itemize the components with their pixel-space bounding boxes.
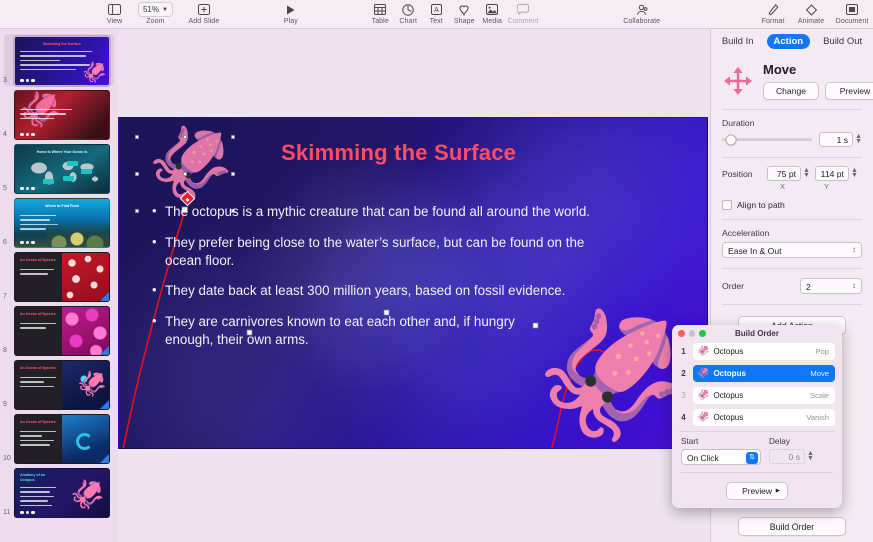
toolbar-add-slide-button[interactable]: Add Slide	[184, 0, 224, 25]
bullet-item: The octopus is a mythic creature that ca…	[151, 203, 676, 221]
toolbar-play-label: Play	[284, 18, 298, 25]
build-order-index: 3	[679, 391, 688, 400]
align-to-path-label: Align to path	[737, 200, 785, 210]
text-icon: A	[431, 2, 442, 17]
thumbnail-image: An Ocean of Species	[14, 306, 110, 356]
bullet-item: They date back at least 300 million year…	[151, 282, 676, 300]
build-order-object-name: Octopus	[713, 391, 806, 400]
play-icon	[285, 2, 296, 17]
toolbar-shape-label: Shape	[454, 18, 475, 25]
slide-number: 6	[3, 239, 7, 246]
thumbnail-build-dots	[20, 187, 35, 191]
octopus-icon: 🦑	[697, 369, 709, 379]
slide-thumbnail-9[interactable]: 🦑 An Ocean of Species 9	[0, 357, 118, 411]
slide-thumbnail-10[interactable]: An Ocean of Species 10	[0, 411, 118, 465]
toolbar-zoom-label: Zoom	[146, 18, 164, 25]
duration-slider-knob[interactable]	[726, 134, 737, 145]
transition-corner-marker	[100, 292, 109, 301]
thumbnail-image: Where to Find Food	[14, 198, 110, 248]
divider	[722, 268, 862, 269]
toolbar-zoom-control[interactable]: 51% ▼ Zoom	[135, 0, 175, 25]
thumbnail-image: Home Is Where Your Ocean Is	[14, 144, 110, 194]
slide-thumbnail-4[interactable]: 🦑 4	[0, 87, 118, 141]
build-order-effect: Pop	[815, 347, 829, 356]
animate-icon	[805, 2, 818, 17]
slide-navigator-sidebar[interactable]: Skimming the Surface 🦑 3 🦑	[0, 29, 118, 542]
reef-graphic	[47, 221, 109, 247]
thumbnail-title: An Ocean of Species	[20, 420, 56, 424]
sidebar-icon	[108, 2, 121, 17]
toolbar-animate-label: Animate	[798, 18, 824, 25]
build-order-index: 1	[679, 347, 688, 356]
slide-number: 11	[3, 509, 10, 516]
build-order-object-name: Octopus	[713, 369, 806, 378]
toolbar-table-label: Table	[372, 18, 389, 25]
collaborate-icon	[635, 2, 648, 17]
thumbnail-text-lines	[20, 323, 56, 332]
format-brush-icon	[768, 2, 779, 17]
octopus-icon: 🦑	[697, 413, 709, 423]
chart-icon	[402, 2, 414, 17]
toolbar-chart-label: Chart	[399, 18, 417, 25]
donut-chart-graphic	[76, 433, 93, 450]
toolbar-add-slide-label: Add Slide	[189, 18, 220, 25]
axis-y-label: Y	[803, 182, 850, 191]
octopus-graphic: 🦑	[70, 481, 105, 509]
order-value: 2	[806, 282, 811, 292]
toolbar-media-label: Media	[482, 18, 502, 25]
comment-icon	[517, 2, 529, 17]
duration-stepper[interactable]: 1 s ▲▼	[819, 132, 862, 147]
toolbar-shape-button[interactable]: Shape	[450, 0, 478, 25]
slide-canvas-area[interactable]: Skimming the Surface 🦑 The octopus is a …	[118, 29, 710, 542]
build-order-index: 2	[679, 369, 688, 378]
delay-stepper[interactable]: 0 s ▲▼	[769, 449, 814, 464]
svg-text:A: A	[434, 7, 439, 14]
toolbar-chart-button[interactable]: Chart	[394, 0, 422, 25]
build-order-panel[interactable]: Build Order 1 🦑 Octopus Pop 2 🦑 Octopus …	[672, 325, 842, 508]
delay-label: Delay	[769, 437, 814, 446]
thumbnail-text-lines	[20, 487, 56, 509]
thumbnail-title: Anatomy of an Octopus	[20, 473, 60, 482]
toolbar-media-button[interactable]: Media	[478, 0, 506, 25]
divider	[722, 219, 862, 220]
map-callouts	[23, 159, 103, 185]
order-select[interactable]: 2	[800, 278, 862, 294]
build-order-titlebar[interactable]: Build Order	[672, 325, 842, 341]
order-label: Order	[722, 281, 762, 291]
build-order-index: 4	[679, 413, 688, 422]
toolbar-format-label: Format	[762, 18, 785, 25]
divider	[722, 157, 862, 158]
duration-slider[interactable]	[722, 138, 812, 141]
minimize-icon[interactable]	[689, 330, 696, 337]
main-toolbar: View 51% ▼ Zoom Add Slide Play	[0, 0, 873, 29]
toolbar-collaborate-button[interactable]: Collaborate	[619, 0, 665, 25]
thumbnail-text-lines	[20, 109, 72, 122]
slide-thumbnail-8[interactable]: An Ocean of Species 8	[0, 303, 118, 357]
octopus-icon: 🦑	[697, 347, 709, 357]
thumbnail-text-lines	[20, 431, 56, 449]
thumbnail-image: An Ocean of Species	[14, 252, 110, 302]
build-order-button[interactable]: Build Order	[738, 517, 846, 536]
octopus-graphic: 🦑	[82, 63, 107, 83]
thumbnail-text-lines	[20, 269, 54, 278]
thumbnail-title: An Ocean of Species	[20, 312, 56, 316]
keynote-window: View 51% ▼ Zoom Add Slide Play	[0, 0, 873, 542]
zoom-chip-icon[interactable]: 51% ▼	[138, 2, 173, 17]
thumbnail-image: An Ocean of Species	[14, 414, 110, 464]
slide-thumbnail-5[interactable]: Home Is Where Your Ocean Is 5	[0, 141, 118, 195]
acceleration-label: Acceleration	[722, 228, 862, 238]
build-order-cell-selected[interactable]: 🦑 Octopus Move	[693, 365, 835, 382]
slide-thumbnail-11[interactable]: Anatomy of an Octopus 🦑 11	[0, 465, 118, 519]
slide-thumbnail-3[interactable]: Skimming the Surface 🦑 3	[0, 33, 118, 87]
tab-action[interactable]: Action	[767, 34, 811, 49]
build-order-effect: Move	[810, 369, 829, 378]
slide-number: 7	[3, 293, 7, 300]
tab-build-in[interactable]: Build In	[715, 34, 761, 49]
toolbar-text-button[interactable]: A Text	[422, 0, 450, 25]
build-order-object-name: Octopus	[713, 347, 811, 356]
slide-number: 10	[3, 455, 11, 462]
divider	[681, 472, 833, 473]
build-order-row[interactable]: 2 🦑 Octopus Move	[679, 365, 835, 382]
action-header: Move Change Preview	[722, 62, 862, 100]
toolbar-text-label: Text	[430, 18, 443, 25]
thumbnail-image: 🦑	[14, 90, 110, 140]
animation-tab-bar[interactable]: Build In Action Build Out	[711, 29, 873, 53]
duration-value[interactable]: 1 s	[819, 132, 853, 147]
thumbnail-title: Skimming the Surface	[43, 42, 81, 46]
start-label: Start	[681, 437, 761, 446]
chevron-down-icon: ▼	[162, 7, 168, 13]
slide-thumbnail-7[interactable]: An Ocean of Species 7	[0, 249, 118, 303]
thumbnail-title: Home Is Where Your Ocean Is	[37, 150, 88, 154]
thumbnail-image: Skimming the Surface 🦑	[14, 36, 110, 86]
toolbar-animate-button[interactable]: Animate	[791, 0, 831, 25]
slide-thumbnail-6[interactable]: Where to Find Food 6	[0, 195, 118, 249]
build-order-cell[interactable]: 🦑 Octopus Scale	[693, 387, 835, 404]
thumbnail-text-lines	[20, 377, 56, 390]
slide-editor[interactable]: Skimming the Surface 🦑 The octopus is a …	[118, 117, 708, 449]
build-order-cell[interactable]: 🦑 Octopus Pop	[693, 343, 835, 360]
align-to-path-row[interactable]: Align to path	[722, 200, 862, 210]
build-order-cell[interactable]: 🦑 Octopus Vanish	[693, 409, 835, 426]
acceleration-value: Ease In & Out	[728, 246, 782, 256]
preview-action-button[interactable]: Preview	[825, 82, 873, 100]
axis-x-label: X	[762, 182, 803, 191]
position-x-value[interactable]: 75 pt	[767, 166, 801, 181]
duration-label: Duration	[722, 118, 862, 128]
build-order-effect: Scale	[810, 391, 829, 400]
toolbar-document-button[interactable]: Document	[831, 0, 873, 25]
toolbar-play-button[interactable]: Play	[277, 0, 305, 25]
position-y-value[interactable]: 114 pt	[815, 166, 849, 181]
close-icon[interactable]	[678, 330, 685, 337]
slide-title[interactable]: Skimming the Surface	[281, 140, 516, 166]
build-order-row[interactable]: 1 🦑 Octopus Pop	[679, 343, 835, 360]
thumbnail-build-dots	[20, 133, 35, 137]
slide-number: 4	[3, 131, 7, 138]
start-value: On Click	[687, 453, 719, 463]
thumbnail-title: An Ocean of Species	[20, 258, 56, 262]
position-label: Position	[722, 169, 762, 179]
build-order-effect: Vanish	[806, 413, 829, 422]
toolbar-collaborate-label: Collaborate	[623, 18, 660, 25]
thumbnail-build-dots	[20, 241, 35, 245]
build-order-preview-button[interactable]: Preview	[726, 482, 788, 500]
build-order-row[interactable]: 3 🦑 Octopus Scale	[679, 387, 835, 404]
slide-number: 8	[3, 347, 7, 354]
position-y-stepper[interactable]: 114 pt ▲▼	[815, 166, 858, 181]
build-order-list[interactable]: 1 🦑 Octopus Pop 2 🦑 Octopus Move 3 🦑	[672, 341, 842, 426]
acceleration-select[interactable]: Ease In & Out	[722, 242, 862, 258]
action-name: Move	[763, 62, 873, 77]
build-order-object-name: Octopus	[713, 413, 802, 422]
bullet-item: They are carnivores known to eat each ot…	[151, 313, 551, 349]
thumbnail-title: Where to Find Food	[45, 204, 79, 208]
position-x-stepper[interactable]: 75 pt ▲▼	[767, 166, 810, 181]
add-slide-icon	[198, 2, 210, 17]
zoom-value: 51%	[143, 5, 159, 14]
thumbnail-build-dots	[20, 511, 35, 515]
toolbar-format-button[interactable]: Format	[755, 0, 791, 25]
transition-corner-marker	[100, 454, 109, 463]
slide-number: 3	[3, 77, 7, 84]
toolbar-comment-label: Comment	[508, 18, 539, 25]
toolbar-comment-button[interactable]: Comment	[506, 0, 540, 25]
bullet-item: They prefer being close to the water’s s…	[151, 234, 591, 270]
align-to-path-checkbox[interactable]	[722, 200, 732, 210]
transition-corner-marker	[100, 400, 109, 409]
move-arrows-icon	[722, 65, 754, 97]
toolbar-table-button[interactable]: Table	[366, 0, 394, 25]
build-order-row[interactable]: 4 🦑 Octopus Vanish	[679, 409, 835, 426]
start-select[interactable]: On Click ⇅	[681, 449, 761, 465]
octopus-icon: 🦑	[697, 391, 709, 401]
chevron-updown-icon[interactable]: ⇅	[746, 452, 758, 464]
change-action-button[interactable]: Change	[763, 82, 819, 100]
slide-number: 5	[3, 185, 7, 192]
toolbar-view-label: View	[107, 18, 122, 25]
table-icon	[374, 2, 386, 17]
stepper-arrows-icon[interactable]: ▲▼	[807, 452, 814, 461]
divider	[722, 304, 862, 305]
slide-number: 9	[3, 401, 7, 408]
toolbar-view-button[interactable]: View	[101, 0, 129, 25]
stepper-arrows-icon[interactable]: ▲▼	[851, 169, 858, 178]
octopus-graphic: 🦑	[77, 373, 107, 397]
shape-icon	[458, 2, 470, 17]
document-icon	[846, 2, 858, 17]
toolbar-document-label: Document	[836, 18, 869, 25]
stepper-arrows-icon[interactable]: ▲▼	[803, 169, 810, 178]
window-controls[interactable]	[678, 330, 706, 337]
thumbnail-image: 🦑 An Ocean of Species	[14, 360, 110, 410]
zoom-window-icon[interactable]	[699, 330, 706, 337]
thumbnail-build-dots	[20, 79, 35, 83]
tab-build-out[interactable]: Build Out	[816, 34, 869, 49]
media-icon	[486, 2, 498, 17]
delay-value[interactable]: 0 s	[769, 449, 805, 464]
stepper-arrows-icon[interactable]: ▲▼	[855, 135, 862, 144]
thumbnail-image: Anatomy of an Octopus 🦑	[14, 468, 110, 518]
thumbnail-title: An Ocean of Species	[20, 366, 56, 370]
build-order-panel-title: Build Order	[735, 329, 779, 338]
octopus-object-right[interactable]: 🦑	[534, 313, 690, 438]
transition-corner-marker	[100, 346, 109, 355]
divider	[722, 109, 862, 110]
